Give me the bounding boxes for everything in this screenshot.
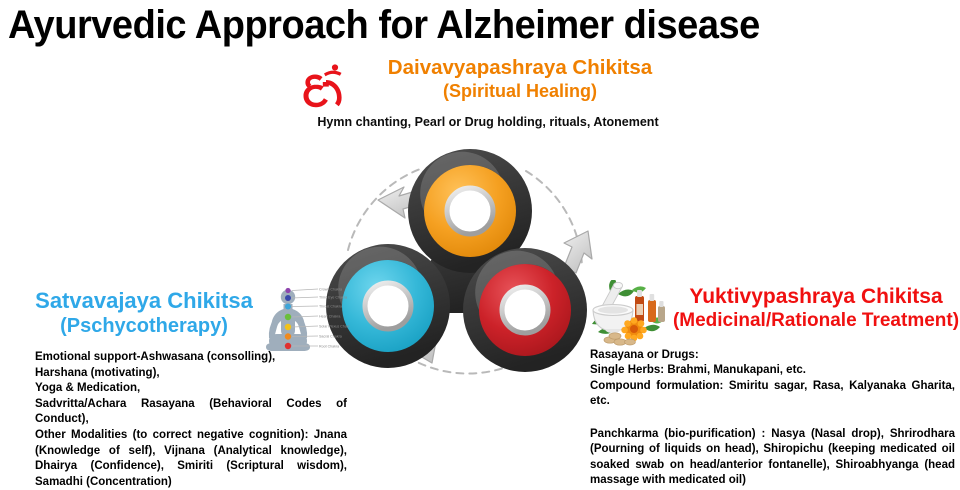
left-line-4: Sadvritta/Achara Rasayana (Behavioral Co… [35, 397, 347, 428]
pillar-left-headings: Satvavajaya Chikitsa (Pschycotherapy) [30, 288, 262, 339]
left-line-1: Emotional support-Ashwasana (consolling)… [35, 350, 347, 366]
pillar-left-subtitle: (Pschycotherapy) [30, 314, 258, 339]
svg-text:Solar Plexus Chakra: Solar Plexus Chakra [319, 324, 350, 328]
page-title: Ayurvedic Approach for Alzheimer disease [8, 2, 905, 48]
right-para1-line3: Compound formulation: Smiritu sagar, Ras… [590, 379, 955, 410]
svg-text:Root Chakra: Root Chakra [319, 344, 339, 348]
right-para2: Panchkarma (bio-purification) : Nasya (N… [590, 427, 955, 488]
om-icon [295, 60, 353, 110]
pillar-yuktivypashraya: Yuktivypashraya Chikitsa (Medicinal/Rati… [588, 278, 960, 346]
pillar-left-body: Emotional support-Ashwasana (consolling)… [35, 350, 347, 490]
svg-text:Sacral Chakra: Sacral Chakra [319, 334, 342, 338]
mortar-pestle-herbs-icon [588, 280, 672, 346]
pillar-right-headings: Yuktivypashraya Chikitsa (Medicinal/Rati… [672, 278, 960, 333]
right-para1-line1: Rasayana or Drugs: [590, 348, 955, 363]
left-line-2: Harshana (motivating), [35, 366, 347, 382]
pillar-right-title: Yuktivypashraya Chikitsa [672, 284, 960, 309]
pillar-daivavyapashraya: Daivavyapashraya Chikitsa (Spiritual Hea… [295, 56, 685, 130]
pillar-top-headings: Daivavyapashraya Chikitsa (Spiritual Hea… [353, 56, 685, 102]
pillar-right-body: Rasayana or Drugs: Single Herbs: Brahmi,… [590, 348, 955, 488]
svg-text:Third Eye Chakra: Third Eye Chakra [319, 295, 347, 299]
svg-text:Heart Chakra: Heart Chakra [319, 314, 340, 318]
svg-text:Crown Chakra: Crown Chakra [319, 287, 342, 291]
left-line-3: Yoga & Medication, [35, 381, 347, 397]
left-line-5: Other Modalities (to correct negative co… [35, 428, 347, 490]
chakra-meditation-icon: Crown Chakra Third Eye Chakra Throat Cha… [262, 284, 350, 360]
right-para1-line2: Single Herbs: Brahmi, Manukapani, etc. [590, 363, 955, 378]
pillar-right-subtitle: (Medicinal/Rationale Treatment) [672, 309, 960, 333]
pillar-left-title: Satvavajaya Chikitsa [30, 288, 258, 314]
svg-text:Throat Chakra: Throat Chakra [319, 304, 342, 308]
fidget-spinner-diagram [320, 138, 620, 378]
pillar-top-subtitle: (Spiritual Healing) [355, 80, 685, 102]
pillar-top-title: Daivavyapashraya Chikitsa [388, 56, 652, 79]
pillar-top-description: Hymn chanting, Pearl or Drug holding, ri… [291, 115, 685, 130]
